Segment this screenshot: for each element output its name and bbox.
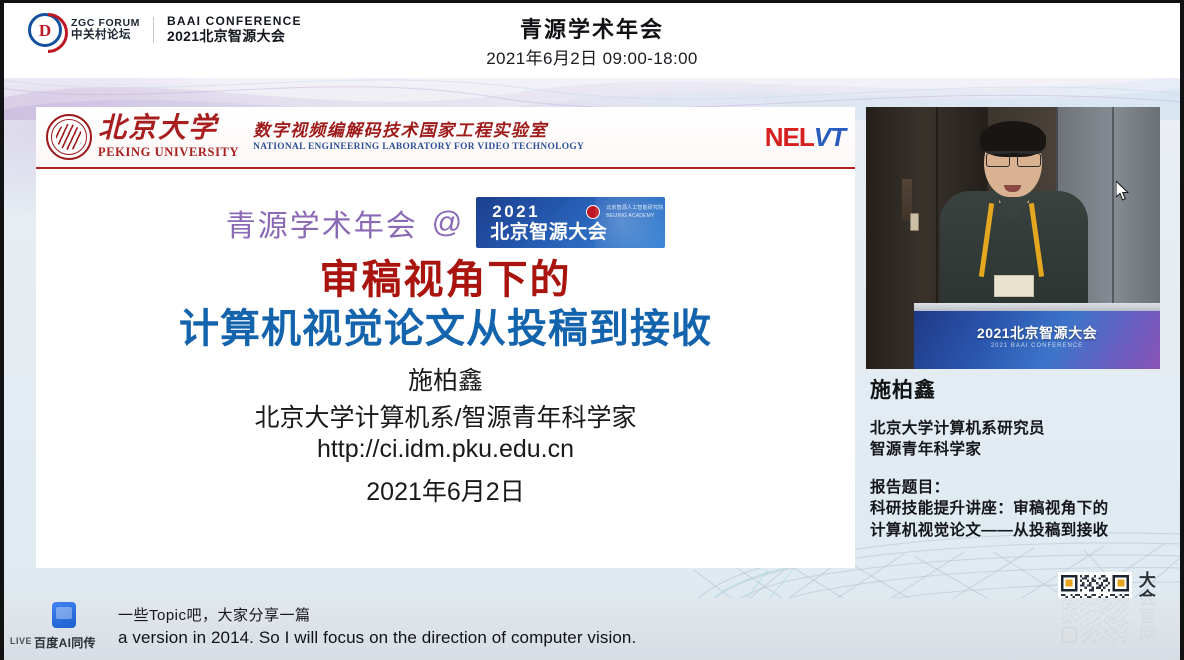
badge-chip-icon [586,205,600,219]
podium-panel: 2021北京智源大会 2021 BAAI CONFERENCE [914,311,1160,369]
lab-name-cn: 数字视频编解码技术国家工程实验室 [253,122,759,141]
peking-university-name: 北京大学 PEKING UNIVERSITY [98,115,239,160]
event-title: 青源学术年会 [0,12,1184,44]
nelvt-nel-text: NEL [765,122,814,152]
podium-text-en: 2021 BAAI CONFERENCE [914,343,1160,349]
annual-meeting-label: 青源学术年会 [226,201,418,245]
pku-name-en: PEKING UNIVERSITY [98,145,239,160]
slide-author-url[interactable]: http://ci.idm.pku.edu.cn [36,435,855,464]
speaker-glasses-icon [986,151,1041,164]
speaker-affiliation-line1: 北京大学计算机系研究员 [870,418,1160,439]
badge-chip-label: 北京智源人工智能研究院 BEIJING ACADEMY [606,205,665,220]
window-edge-top [0,0,1184,3]
window-edge-right [1180,0,1184,660]
stream-header: D ZGC FORUM 中关村论坛 BAAI CONFERENCE 2021北京… [0,0,1184,78]
badge-name-cn: 北京智源大会 [490,223,665,242]
nelvt-logo-icon: NELVT [765,124,845,150]
lab-name-en: NATIONAL ENGINEERING LABORATORY FOR VIDE… [253,142,759,152]
podium-text-cn: 2021北京智源大会 [914,323,1160,343]
speaker-affiliation-line2: 智源青年科学家 [870,439,1160,460]
podium-top-edge [914,303,1160,311]
mouse-cursor-icon [1116,181,1130,201]
watermark-label: 百度AI同传 [34,634,96,651]
nelvt-vt-text: VT [814,122,845,152]
live-badge: LIVE [10,636,32,646]
topic-line1: 科研技能提升讲座：审稿视角下的 [870,498,1160,519]
slide-annual-line: 青源学术年会 @ 2021 北京智源人工智能研究院 BEIJING ACADEM… [36,197,855,248]
subtitle-chinese: 一些Topic吧，大家分享一篇 [118,604,311,625]
presentation-slide[interactable]: 北京大学 PEKING UNIVERSITY 数字视频编解码技术国家工程实验室 … [36,107,855,568]
wall-switch-icon [910,213,919,231]
badge-year-label: 2021 [492,203,665,220]
speaker-affiliation-block: 北京大学计算机系研究员 智源青年科学家 [870,418,1160,461]
slide-author-name: 施柏鑫 [36,361,855,397]
at-symbol: @ [432,206,462,240]
speaker-topic-block: 报告题目： 科研技能提升讲座：审稿视角下的 计算机视觉论文——从投稿到接收 [870,477,1160,541]
baidu-ai-watermark: LIVE 百度AI同传 [10,600,110,658]
lab-name: 数字视频编解码技术国家工程实验室 NATIONAL ENGINEERING LA… [253,122,759,152]
pku-name-cn: 北京大学 [98,115,239,143]
speaker-video[interactable]: 2021北京智源大会 2021 BAAI CONFERENCE [866,107,1160,369]
speaker-info-panel: 施柏鑫 北京大学计算机系研究员 智源青年科学家 报告题目： 科研技能提升讲座：审… [866,372,1160,562]
baidu-cube-icon [52,602,76,628]
topic-label: 报告题目： [870,477,1160,498]
slide-title-line2: 计算机视觉论文从投稿到接收 [36,296,855,354]
event-datetime: 2021年6月2日 09:00-18:00 [0,44,1184,69]
slide-body: 青源学术年会 @ 2021 北京智源人工智能研究院 BEIJING ACADEM… [36,169,855,566]
subtitle-english: a version in 2014. So I will focus on th… [118,628,636,648]
speaker-name: 施柏鑫 [870,374,1160,404]
window-edge-left [0,0,4,660]
slide-banner: 北京大学 PEKING UNIVERSITY 数字视频编解码技术国家工程实验室 … [36,107,855,169]
slide-author-affiliation: 北京大学计算机系/智源青年科学家 [36,398,855,434]
speaker-badge-card [994,275,1034,297]
peking-university-seal-icon [46,114,92,160]
screen-capture: D ZGC FORUM 中关村论坛 BAAI CONFERENCE 2021北京… [0,0,1184,660]
slide-date: 2021年6月2日 [36,472,855,508]
baai-conference-badge: 2021 北京智源人工智能研究院 BEIJING ACADEMY 北京智源大会 [476,197,665,248]
topic-line2: 计算机视觉论文——从投稿到接收 [870,520,1160,541]
subtitle-bar: LIVE 百度AI同传 一些Topic吧，大家分享一篇 a version in… [0,598,1184,660]
